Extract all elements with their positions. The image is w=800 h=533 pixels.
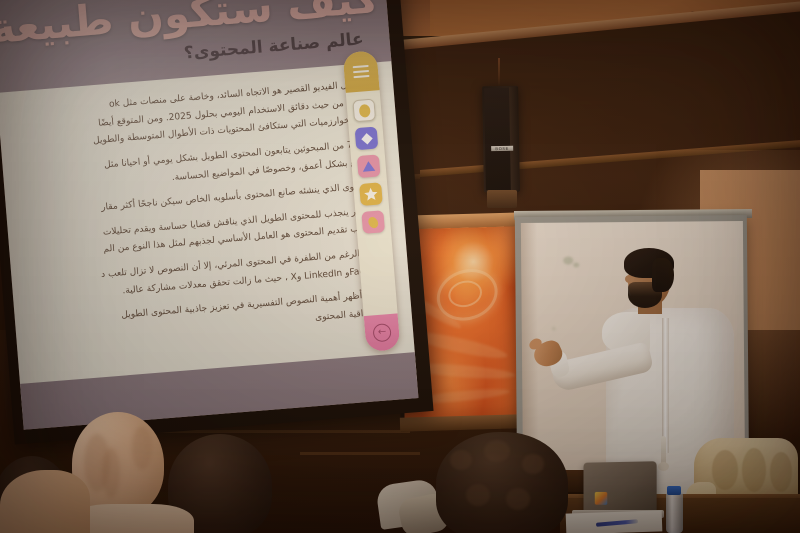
oval-shape-icon[interactable] xyxy=(361,210,385,234)
hair-curl xyxy=(506,488,530,510)
hair-curl xyxy=(450,450,472,470)
hijab-fold xyxy=(102,448,120,498)
whiteboard-smudge xyxy=(563,257,573,265)
laptop-sticker xyxy=(595,492,607,505)
star-shape-icon[interactable] xyxy=(359,182,383,206)
thobe-placket xyxy=(662,318,669,453)
hair-curl xyxy=(466,484,490,506)
bose-logo: BOSE xyxy=(491,146,513,151)
hijab-fold xyxy=(132,426,152,470)
projection-screen[interactable]: كيف ستكون طبيعة المـ عالم صناعة المحتوى؟… xyxy=(0,0,434,445)
ceiling-speaker: BOSE xyxy=(482,86,520,193)
presentation-slide[interactable]: كيف ستكون طبيعة المـ عالم صناعة المحتوى؟… xyxy=(0,0,418,430)
thobe-tassel-tip xyxy=(658,462,669,471)
speaker-grille xyxy=(484,88,511,190)
armchair-tuft xyxy=(742,448,766,492)
audience-member-curly-hair xyxy=(436,432,568,533)
triangle-glyph xyxy=(361,160,376,173)
bottle-cap xyxy=(667,486,681,495)
diamond-shape-icon[interactable] xyxy=(355,126,379,150)
hamburger-menu-icon xyxy=(353,65,370,78)
diamond-glyph xyxy=(359,131,373,145)
triangle-shape-icon[interactable] xyxy=(357,154,381,178)
star-glyph xyxy=(363,187,378,202)
whiteboard-smudge xyxy=(552,327,556,331)
armchair-tuft xyxy=(712,450,738,490)
circle-glyph xyxy=(357,102,371,118)
presentation-room-photo: BOSE xyxy=(0,0,800,533)
water-bottle xyxy=(666,492,683,533)
whiteboard-smudge xyxy=(573,262,579,267)
hair-curl xyxy=(484,440,510,462)
screen-frame: كيف ستكون طبيعة المـ عالم صناعة المحتوى؟… xyxy=(0,0,434,445)
screen-inner-border: كيف ستكون طبيعة المـ عالم صناعة المحتوى؟… xyxy=(0,0,418,430)
back-arrow-icon: ← xyxy=(372,323,391,342)
armchair-tuft xyxy=(770,452,792,492)
speaker-side xyxy=(509,87,520,191)
audience-member-arm xyxy=(0,470,90,533)
hair-curl xyxy=(522,454,544,474)
speaker-bracket xyxy=(487,190,517,208)
laptop xyxy=(583,461,656,515)
panel-seam xyxy=(300,452,420,455)
circle-shape-icon[interactable] xyxy=(352,99,376,123)
presenter-hair-side xyxy=(652,258,674,292)
oval-glyph xyxy=(366,215,381,229)
